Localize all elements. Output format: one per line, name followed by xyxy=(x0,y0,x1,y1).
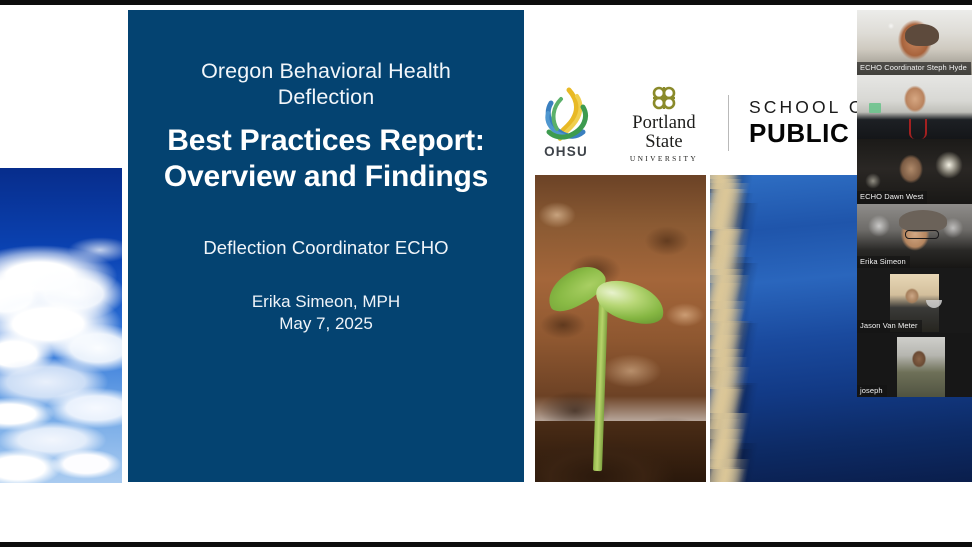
participant-silhouette xyxy=(899,210,947,232)
video-tile[interactable]: ECHO Dawn West xyxy=(857,139,972,204)
participant-glasses xyxy=(905,230,939,239)
slide-eyebrow-text: Oregon Behavioral Health Deflection xyxy=(154,58,498,110)
wall-panel xyxy=(869,103,881,113)
video-tile[interactable]: Jason Van Meter xyxy=(857,268,972,333)
psu-knot-icon xyxy=(649,83,679,113)
video-participant-sidebar[interactable]: ECHO Coordinator Steph Hyde ECHO Dawn We… xyxy=(857,10,972,397)
ohsu-flame-icon xyxy=(539,87,593,143)
participant-silhouette xyxy=(897,337,945,398)
participant-name-label: Erika Simeon xyxy=(857,256,910,268)
presentation-date: May 7, 2025 xyxy=(154,313,498,336)
participant-silhouette xyxy=(905,24,939,46)
participant-name-label: Jason Van Meter xyxy=(857,320,922,332)
sky-and-clouds-photo xyxy=(0,168,122,483)
psu-wordmark-line3: UNIVERSITY xyxy=(630,154,698,163)
participant-name-label: ECHO Coordinator Steph Hyde xyxy=(857,62,971,74)
video-tile[interactable]: joseph xyxy=(857,333,972,398)
ohsu-logo: OHSU xyxy=(538,87,594,159)
soil-mound xyxy=(535,421,706,482)
presenter-name: Erika Simeon, MPH xyxy=(154,291,498,314)
ohsu-wordmark: OHSU xyxy=(544,144,588,159)
video-tile[interactable]: Erika Simeon xyxy=(857,204,972,269)
slide-title-panel: Oregon Behavioral Health Deflection Best… xyxy=(128,10,524,482)
video-feed xyxy=(857,75,972,140)
psu-wordmark-line2: State xyxy=(645,133,683,152)
seedling-in-soil-photo xyxy=(535,175,706,482)
slide-presenter: Erika Simeon, MPH May 7, 2025 xyxy=(154,291,498,336)
participant-name-label: joseph xyxy=(857,385,887,397)
letterbox-bottom-bar xyxy=(0,542,972,547)
logo-divider xyxy=(728,95,729,151)
slide-series-name: Deflection Coordinator ECHO xyxy=(154,237,498,259)
participant-silhouette xyxy=(909,119,927,139)
participant-beard xyxy=(926,300,942,308)
participant-name-label: ECHO Dawn West xyxy=(857,191,927,203)
video-tile[interactable]: ECHO Coordinator Steph Hyde xyxy=(857,10,972,75)
presentation-slide: Oregon Behavioral Health Deflection Best… xyxy=(0,5,972,542)
psu-logo: Portland State UNIVERSITY xyxy=(616,83,712,163)
slide-title: Best Practices Report: Overview and Find… xyxy=(154,123,498,194)
video-tile[interactable] xyxy=(857,75,972,140)
psu-wordmark-line1: Portland xyxy=(632,114,696,133)
